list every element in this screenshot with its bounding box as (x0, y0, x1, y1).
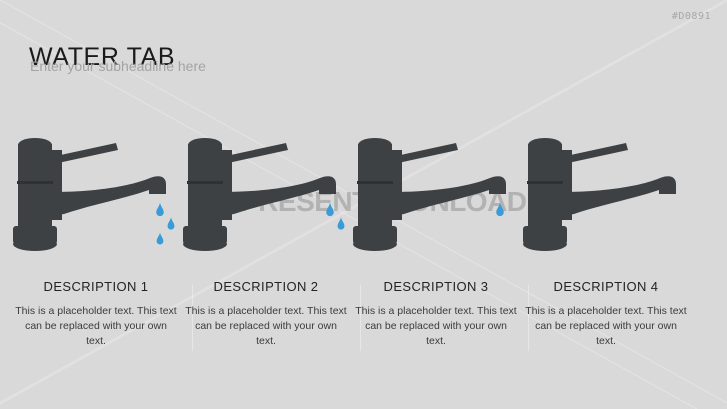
faucet-cell-1 (8, 132, 184, 262)
slide-canvas: #D0891 WATER TAB Enter your subheadline … (0, 0, 727, 409)
caption-body-1[interactable]: This is a placeholder text. This text ca… (14, 304, 178, 350)
caption-body-2[interactable]: This is a placeholder text. This text ca… (184, 304, 348, 350)
water-droplet-icon (157, 233, 164, 245)
caption-column-3: DESCRIPTION 3This is a placeholder text.… (354, 280, 518, 350)
water-faucet-icon (8, 132, 184, 262)
caption-column-2: DESCRIPTION 2This is a placeholder text.… (184, 280, 348, 350)
water-faucet-icon (518, 132, 694, 262)
faucet-cell-3 (348, 132, 524, 262)
caption-column-1: DESCRIPTION 1This is a placeholder text.… (14, 280, 178, 350)
water-droplet-icon (326, 203, 334, 216)
caption-body-3[interactable]: This is a placeholder text. This text ca… (354, 304, 518, 350)
faucet-illustration-row (0, 132, 727, 262)
water-faucet-icon (178, 132, 354, 262)
water-faucet-icon (348, 132, 524, 262)
water-droplet-icon (338, 218, 345, 230)
caption-heading-2[interactable]: DESCRIPTION 2 (184, 280, 348, 293)
faucet-cell-4 (518, 132, 694, 262)
slide-code: #D0891 (672, 11, 711, 22)
water-droplet-icon (168, 218, 175, 230)
caption-heading-3[interactable]: DESCRIPTION 3 (354, 280, 518, 293)
water-droplet-icon (496, 203, 504, 216)
caption-heading-1[interactable]: DESCRIPTION 1 (14, 280, 178, 293)
page-subtitle: Enter your subheadline here (30, 59, 206, 73)
faucet-cell-2 (178, 132, 354, 262)
water-droplet-icon (156, 203, 164, 216)
caption-heading-4[interactable]: DESCRIPTION 4 (524, 280, 688, 293)
caption-row: DESCRIPTION 1This is a placeholder text.… (0, 280, 727, 360)
caption-column-4: DESCRIPTION 4This is a placeholder text.… (524, 280, 688, 350)
caption-body-4[interactable]: This is a placeholder text. This text ca… (524, 304, 688, 350)
